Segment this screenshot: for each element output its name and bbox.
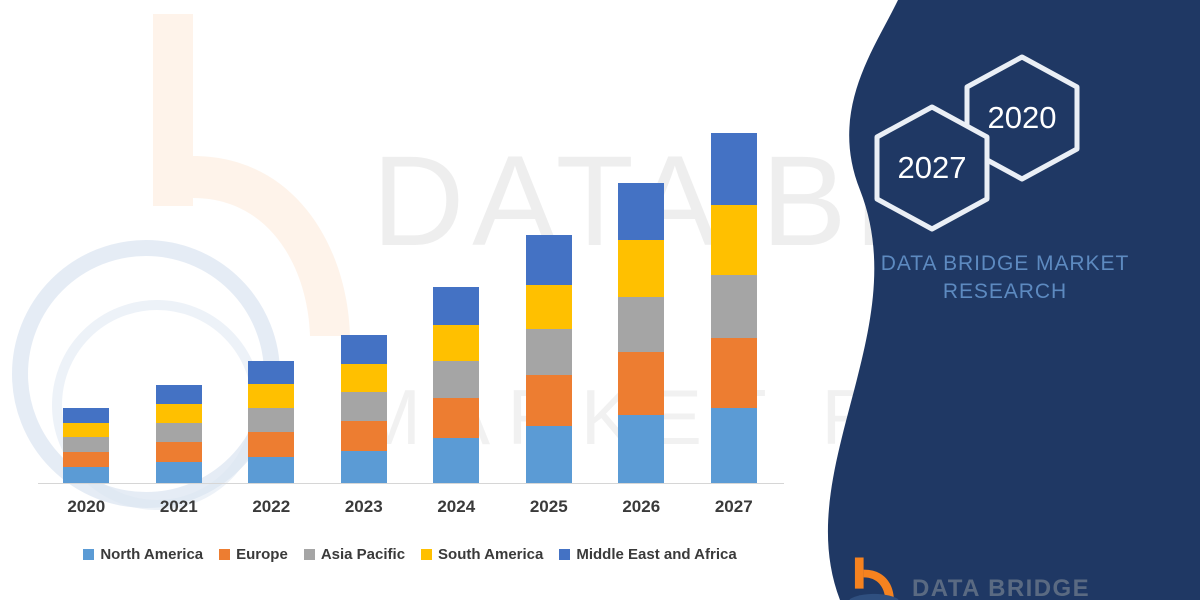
bar-segment bbox=[156, 385, 202, 404]
bar-segment bbox=[526, 375, 572, 426]
bar-segment bbox=[433, 287, 479, 325]
bar-segment bbox=[341, 421, 387, 451]
bar-group bbox=[40, 40, 780, 483]
bar-segment bbox=[526, 285, 572, 329]
bar-segment bbox=[341, 335, 387, 364]
bar-column bbox=[225, 40, 317, 483]
bar-column bbox=[503, 40, 595, 483]
bar-segment bbox=[63, 423, 109, 437]
stacked-bar bbox=[156, 385, 202, 483]
bar-segment bbox=[248, 361, 294, 384]
bridge-mark-icon bbox=[848, 554, 900, 600]
bar-column bbox=[595, 40, 687, 483]
bar-segment bbox=[341, 451, 387, 483]
hexagon-2027: 2027 bbox=[868, 102, 996, 234]
legend-swatch bbox=[219, 549, 230, 560]
x-axis-label: 2023 bbox=[318, 497, 410, 517]
legend-label: Asia Pacific bbox=[321, 546, 405, 563]
bar-segment bbox=[618, 240, 664, 297]
bar-segment bbox=[341, 364, 387, 392]
bar-segment bbox=[526, 329, 572, 375]
bar-segment bbox=[618, 183, 664, 240]
x-axis-label: 2021 bbox=[133, 497, 225, 517]
x-axis-label: 2027 bbox=[688, 497, 780, 517]
legend-label: North America bbox=[100, 546, 203, 563]
bar-segment bbox=[156, 404, 202, 423]
bar-segment bbox=[156, 462, 202, 483]
x-axis-label: 2026 bbox=[595, 497, 687, 517]
x-axis-line bbox=[38, 483, 784, 484]
legend-label: Middle East and Africa bbox=[576, 546, 736, 563]
bar-segment bbox=[433, 325, 479, 361]
bar-segment bbox=[248, 432, 294, 457]
brand-panel: 2020 2027 DATA BRIDGE MARKET RESEARCH bbox=[780, 0, 1200, 600]
chart-legend: North AmericaEuropeAsia PacificSouth Ame… bbox=[40, 541, 780, 567]
stacked-bar bbox=[63, 408, 109, 483]
logo-text: DATA BRIDGE bbox=[912, 575, 1090, 600]
x-axis-labels: 20202021202220232024202520262027 bbox=[40, 492, 780, 522]
bar-segment bbox=[156, 423, 202, 442]
bar-segment bbox=[618, 415, 664, 483]
legend-label: Europe bbox=[236, 546, 288, 563]
stacked-bar bbox=[711, 133, 757, 483]
bar-column bbox=[133, 40, 225, 483]
legend-swatch bbox=[83, 549, 94, 560]
bar-segment bbox=[526, 426, 572, 483]
bar-segment bbox=[711, 275, 757, 338]
legend-item[interactable]: South America bbox=[421, 546, 543, 563]
svg-text:2020: 2020 bbox=[988, 100, 1057, 135]
bar-segment bbox=[341, 392, 387, 421]
bar-column bbox=[410, 40, 502, 483]
legend-item[interactable]: Middle East and Africa bbox=[559, 546, 736, 563]
brand-line-2: RESEARCH bbox=[840, 278, 1170, 306]
bar-segment bbox=[433, 438, 479, 483]
bar-segment bbox=[63, 452, 109, 467]
x-axis-label: 2025 bbox=[503, 497, 595, 517]
bar-segment bbox=[526, 235, 572, 285]
bar-segment bbox=[248, 457, 294, 483]
bar-segment bbox=[711, 408, 757, 483]
bar-segment bbox=[618, 352, 664, 415]
stacked-bar bbox=[526, 235, 572, 483]
brand-name: DATA BRIDGE MARKET RESEARCH bbox=[840, 250, 1170, 305]
legend-item[interactable]: Europe bbox=[219, 546, 288, 563]
stacked-bar bbox=[248, 361, 294, 483]
bar-segment bbox=[63, 437, 109, 452]
bar-segment bbox=[63, 408, 109, 423]
stacked-bar bbox=[618, 183, 664, 483]
bar-segment bbox=[156, 442, 202, 462]
legend-swatch bbox=[304, 549, 315, 560]
bar-column bbox=[40, 40, 132, 483]
stacked-bar bbox=[341, 335, 387, 483]
bar-segment bbox=[248, 408, 294, 432]
legend-item[interactable]: Asia Pacific bbox=[304, 546, 405, 563]
brand-panel-inner: 2020 2027 DATA BRIDGE MARKET RESEARCH bbox=[780, 0, 1200, 600]
bar-segment bbox=[711, 133, 757, 205]
legend-item[interactable]: North America bbox=[83, 546, 203, 563]
bar-segment bbox=[433, 398, 479, 438]
bar-segment bbox=[63, 467, 109, 483]
legend-label: South America bbox=[438, 546, 543, 563]
bar-segment bbox=[711, 338, 757, 408]
legend-swatch bbox=[421, 549, 432, 560]
bar-column bbox=[688, 40, 780, 483]
brand-line-1: DATA BRIDGE MARKET bbox=[840, 250, 1170, 278]
x-axis-label: 2024 bbox=[410, 497, 502, 517]
stacked-bar-chart: 20202021202220232024202520262027 North A… bbox=[0, 0, 800, 600]
stacked-bar bbox=[433, 287, 479, 483]
bar-segment bbox=[618, 297, 664, 352]
bar-segment bbox=[248, 384, 294, 408]
bar-segment bbox=[711, 205, 757, 275]
legend-swatch bbox=[559, 549, 570, 560]
x-axis-label: 2020 bbox=[40, 497, 132, 517]
bar-column bbox=[318, 40, 410, 483]
bar-segment bbox=[433, 361, 479, 398]
svg-text:2027: 2027 bbox=[898, 150, 967, 185]
infographic-canvas: DATA BR MARKET RESEARCH 2020202120222023… bbox=[0, 0, 1200, 600]
data-bridge-logo: DATA BRIDGE bbox=[848, 554, 1090, 600]
x-axis-label: 2022 bbox=[225, 497, 317, 517]
